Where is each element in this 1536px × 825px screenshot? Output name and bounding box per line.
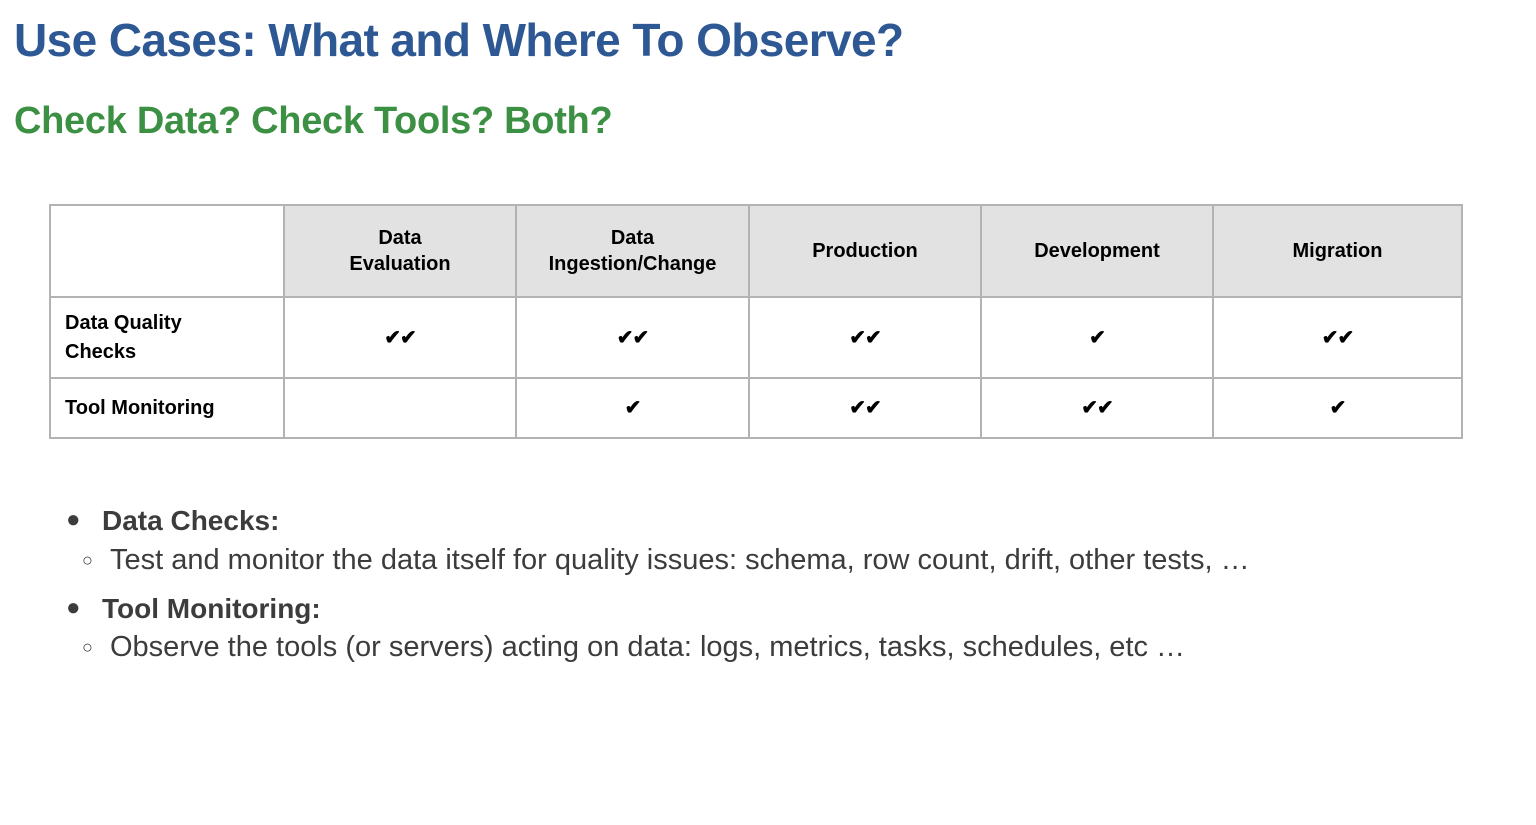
cell-check-mark: ✔ bbox=[516, 378, 749, 438]
cell-check-mark: ✔✔ bbox=[284, 297, 516, 378]
bullet-disc-icon: ● bbox=[58, 591, 102, 626]
cell-check-mark: ✔ bbox=[1213, 378, 1462, 438]
cell-check-mark: ✔ bbox=[981, 297, 1213, 378]
sub-bullet-item-data-checks-detail: ○ Test and monitor the data itself for q… bbox=[58, 542, 1498, 580]
sub-bullet-item-tool-monitoring-detail: ○ Observe the tools (or servers) acting … bbox=[58, 629, 1498, 667]
cell-check-mark: ✔✔ bbox=[516, 297, 749, 378]
column-header-line-1: Data bbox=[378, 227, 421, 249]
cell-check-mark: ✔✔ bbox=[749, 297, 981, 378]
use-case-table: Data Evaluation Data Ingestion/Change Pr… bbox=[49, 204, 1463, 439]
bullet-heading: Data Checks: bbox=[102, 503, 1498, 539]
table-corner-cell bbox=[50, 205, 284, 297]
bullet-heading: Tool Monitoring: bbox=[102, 591, 1498, 627]
page-title: Use Cases: What and Where To Observe? bbox=[14, 14, 904, 67]
cell-check-mark: ✔✔ bbox=[1213, 297, 1462, 378]
bullet-disc-icon: ● bbox=[58, 503, 102, 538]
bullet-item-tool-monitoring: ● Tool Monitoring: bbox=[58, 591, 1498, 627]
cell-check-mark bbox=[284, 378, 516, 438]
table-row: Tool Monitoring ✔ ✔✔ ✔✔ ✔ bbox=[50, 378, 1462, 438]
column-header-data-ingestion-change: Data Ingestion/Change bbox=[516, 205, 749, 297]
cell-check-mark: ✔✔ bbox=[981, 378, 1213, 438]
slide-root: Use Cases: What and Where To Observe? Ch… bbox=[0, 0, 1536, 825]
use-case-matrix: Data Evaluation Data Ingestion/Change Pr… bbox=[49, 204, 1461, 439]
row-header-tool-monitoring: Tool Monitoring bbox=[50, 378, 284, 438]
column-header-development: Development bbox=[981, 205, 1213, 297]
sub-bullet-text: Observe the tools (or servers) acting on… bbox=[110, 629, 1400, 667]
column-header-line-2: Evaluation bbox=[349, 253, 450, 275]
bullet-group-tool-monitoring: ● Tool Monitoring: ○ Observe the tools (… bbox=[58, 591, 1498, 668]
column-header-production: Production bbox=[749, 205, 981, 297]
bullet-item-data-checks: ● Data Checks: bbox=[58, 503, 1498, 539]
cell-check-mark: ✔✔ bbox=[749, 378, 981, 438]
row-header-line-2: Checks bbox=[65, 341, 136, 363]
row-header-line-1: Data Quality bbox=[65, 312, 182, 334]
bullet-group-data-checks: ● Data Checks: ○ Test and monitor the da… bbox=[58, 503, 1498, 580]
bullet-circle-icon: ○ bbox=[58, 629, 110, 665]
table-row: Data Quality Checks ✔✔ ✔✔ ✔✔ ✔ ✔✔ bbox=[50, 297, 1462, 378]
page-subtitle: Check Data? Check Tools? Both? bbox=[14, 100, 612, 144]
row-header-data-quality-checks: Data Quality Checks bbox=[50, 297, 284, 378]
table-header-row: Data Evaluation Data Ingestion/Change Pr… bbox=[50, 205, 1462, 297]
bullet-circle-icon: ○ bbox=[58, 542, 110, 578]
sub-bullet-text: Test and monitor the data itself for qua… bbox=[110, 542, 1400, 580]
column-header-migration: Migration bbox=[1213, 205, 1462, 297]
column-header-line-1: Data bbox=[611, 227, 654, 249]
column-header-data-evaluation: Data Evaluation bbox=[284, 205, 516, 297]
column-header-line-2: Ingestion/Change bbox=[549, 253, 717, 275]
bullet-list: ● Data Checks: ○ Test and monitor the da… bbox=[58, 503, 1498, 678]
